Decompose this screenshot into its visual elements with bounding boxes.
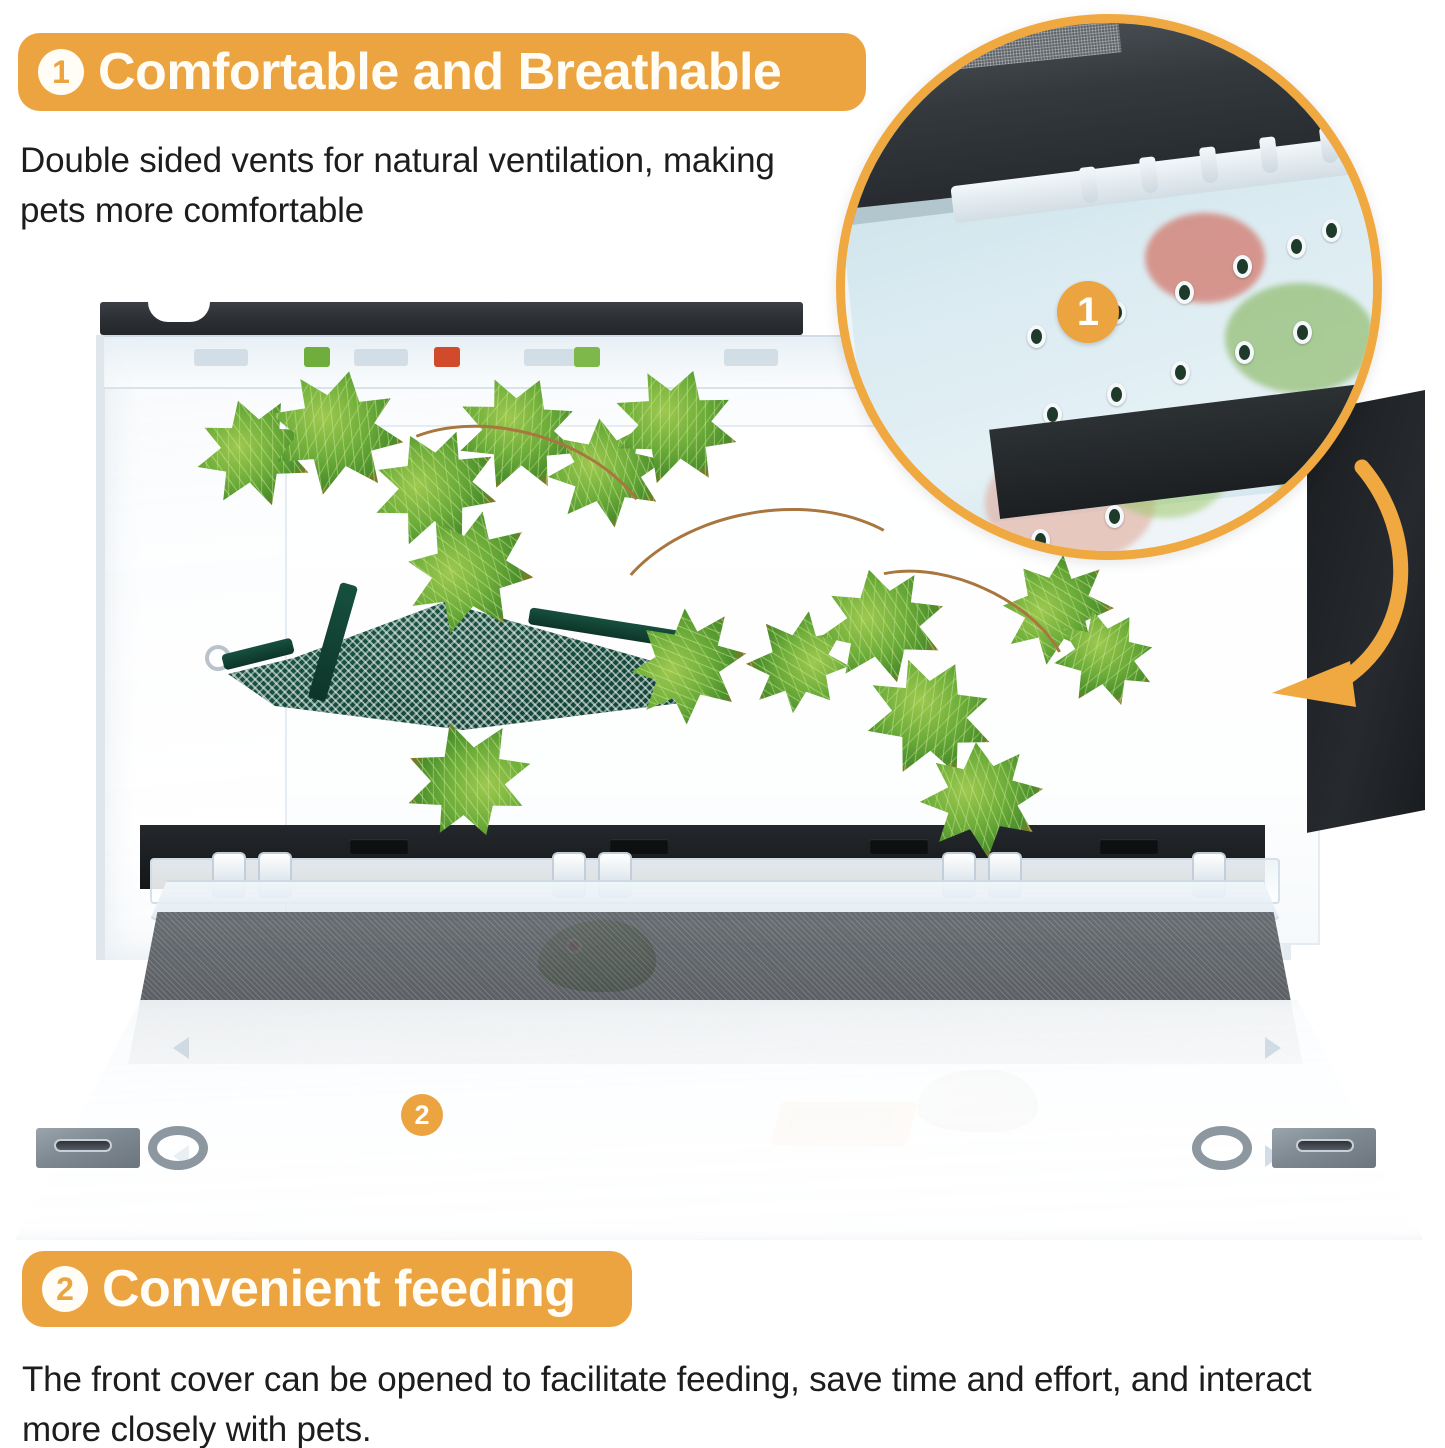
latch-slot	[1296, 1139, 1354, 1152]
latch-ring	[148, 1126, 208, 1170]
section-2-title: Convenient feeding	[102, 1263, 575, 1315]
callout-number-badge: 1	[1057, 281, 1119, 343]
section-1-title: Comfortable and Breathable	[98, 46, 781, 98]
section-2-description: The front cover can be opened to facilit…	[22, 1355, 1322, 1448]
infographic-page: 1 Comfortable and Breathable Double side…	[0, 0, 1445, 1448]
cover-number-badge: 2	[401, 1094, 443, 1136]
curved-arrow-icon	[1210, 455, 1440, 765]
latch-slot	[54, 1139, 112, 1152]
section-1-number-badge: 1	[38, 49, 84, 95]
section-2-banner: 2 Convenient feeding	[22, 1251, 632, 1327]
section-1-description: Double sided vents for natural ventilati…	[20, 136, 800, 235]
front-cover-panel[interactable]	[10, 1000, 1428, 1240]
front-cover-latch-left[interactable]	[36, 1122, 234, 1174]
latch-ring	[1192, 1126, 1252, 1170]
section-2-number-badge: 2	[42, 1266, 88, 1312]
section-1-banner: 1 Comfortable and Breathable	[18, 33, 866, 111]
front-cover-latch-right[interactable]	[1178, 1122, 1376, 1174]
